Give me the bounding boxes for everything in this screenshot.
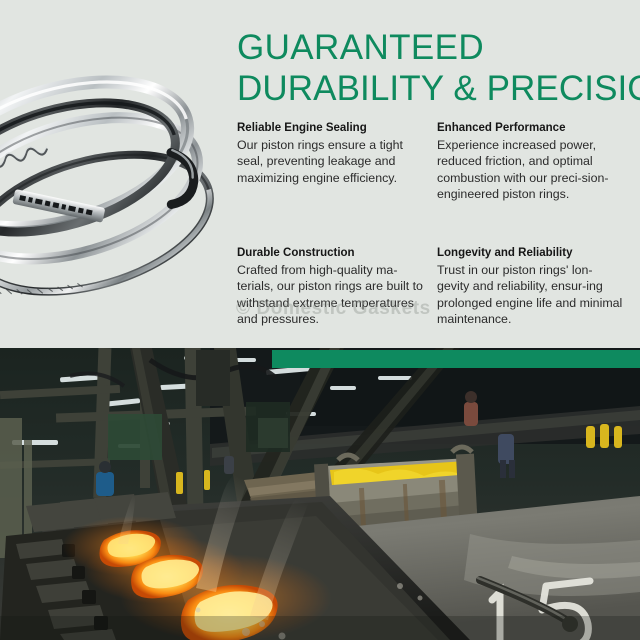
top-content-section: GUARANTEED DURABILITY & PRECISION Reliab…	[0, 0, 640, 348]
feature-title: Durable Construction	[237, 245, 423, 261]
headline-line-2: DURABILITY & PRECISION	[237, 68, 637, 109]
feature-longevity-and-reliability: Longevity and Reliability Trust in our p…	[437, 202, 623, 327]
feature-reliable-engine-sealing: Reliable Engine Sealing Our piston rings…	[237, 120, 423, 202]
headline-line-1: GUARANTEED	[237, 27, 637, 68]
feature-title: Longevity and Reliability	[437, 245, 623, 261]
feature-body: Crafted from high-quality ma-terials, ou…	[237, 262, 423, 327]
feature-durable-construction: Durable Construction Crafted from high-q…	[237, 202, 423, 327]
feature-title: Reliable Engine Sealing	[237, 120, 423, 136]
green-accent-bar	[272, 350, 640, 368]
poster-root: GUARANTEED DURABILITY & PRECISION Reliab…	[0, 0, 640, 640]
feature-enhanced-performance: Enhanced Performance Experience increase…	[437, 120, 623, 202]
feature-body: Trust in our piston rings' lon-gevity an…	[437, 262, 623, 327]
feature-grid: Reliable Engine Sealing Our piston rings…	[237, 120, 635, 327]
feature-title: Enhanced Performance	[437, 120, 623, 136]
piston-rings-image	[0, 8, 218, 328]
feature-body: Experience increased power, reduced fric…	[437, 137, 623, 202]
page-title: GUARANTEED DURABILITY & PRECISION	[237, 27, 637, 109]
foundry-photo	[0, 348, 640, 640]
feature-body: Our piston rings ensure a tight seal, pr…	[237, 137, 423, 186]
